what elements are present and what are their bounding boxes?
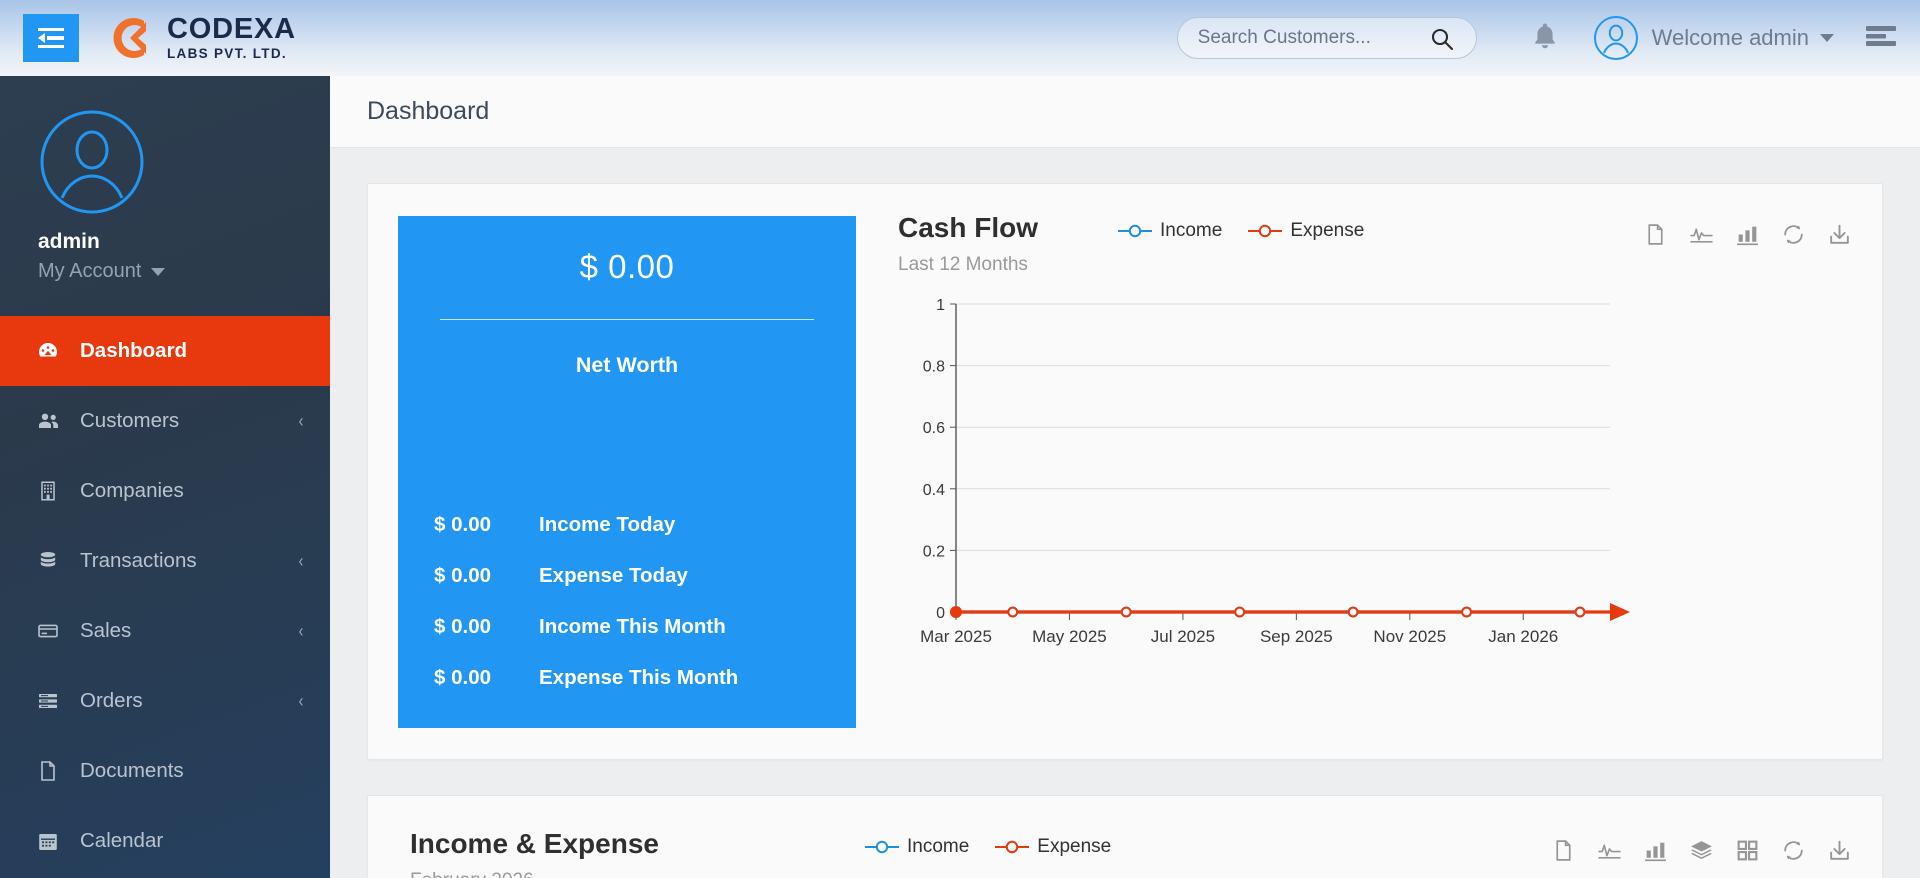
chevron-left-icon: ‹	[299, 621, 304, 642]
stat-label: Income This Month	[539, 615, 726, 639]
stat-value: $ 0.00	[434, 513, 539, 537]
net-worth-stat-row: $ 0.00Expense Today	[434, 564, 820, 588]
legend-item-expense[interactable]: Expense	[1248, 220, 1364, 242]
stat-value: $ 0.00	[434, 615, 539, 639]
calendar-icon	[36, 829, 66, 853]
svg-text:Nov 2025: Nov 2025	[1373, 627, 1446, 646]
sidebar-item-label: Documents	[80, 759, 184, 783]
chevron-down-icon	[1820, 34, 1834, 42]
line-chart-icon[interactable]	[1597, 838, 1622, 868]
stat-value: $ 0.00	[434, 564, 539, 588]
stat-label: Expense Today	[539, 564, 688, 588]
document-icon[interactable]	[1551, 838, 1576, 868]
chart-subtitle: February 2026	[410, 870, 659, 878]
document-icon[interactable]	[1643, 222, 1668, 252]
download-icon[interactable]	[1827, 222, 1852, 252]
legend-item-expense[interactable]: Expense	[995, 836, 1111, 858]
net-worth-tile: $ 0.00 Net Worth $ 0.00Income Today$ 0.0…	[398, 216, 856, 728]
download-icon[interactable]	[1827, 838, 1852, 868]
stat-label: Expense This Month	[539, 666, 738, 690]
search-icon[interactable]	[1430, 27, 1454, 56]
sidebar: admin My Account DashboardCustomers‹Comp…	[0, 76, 330, 878]
legend-marker-icon	[995, 838, 1029, 856]
cash-flow-plot: 00.20.40.60.81Mar 2025May 2025Jul 2025Se…	[898, 290, 1852, 685]
svg-text:0.4: 0.4	[923, 482, 945, 499]
sidebar-profile: admin My Account	[0, 76, 330, 283]
svg-text:0.2: 0.2	[923, 543, 945, 560]
notifications-button[interactable]	[1523, 21, 1567, 56]
user-menu-button[interactable]: Welcome admin	[1652, 25, 1834, 51]
sidebar-item-transactions[interactable]: Transactions‹	[0, 526, 330, 596]
legend-item-income[interactable]: Income	[1118, 220, 1222, 242]
stat-value: $ 0.00	[434, 666, 539, 690]
brand-subtitle: LABS PVT. LTD.	[167, 47, 296, 61]
chevron-left-icon: ‹	[299, 691, 304, 712]
brand-name: CODEXA	[167, 15, 296, 44]
credit-card-icon	[36, 619, 66, 643]
chart-subtitle: Last 12 Months	[898, 254, 1038, 276]
income-expense-card: Income & Expense February 2026 IncomeExp…	[367, 795, 1883, 878]
search-input[interactable]	[1178, 27, 1406, 49]
chart-toolbar	[1551, 828, 1852, 868]
legend-label: Expense	[1290, 220, 1364, 242]
sidebar-item-orders[interactable]: Orders‹	[0, 666, 330, 736]
sidebar-item-label: Orders	[80, 689, 143, 713]
net-worth-stat-row: $ 0.00Expense This Month	[434, 666, 820, 690]
sidebar-item-documents[interactable]: Documents	[0, 736, 330, 806]
users-icon	[36, 409, 66, 433]
sidebar-item-label: Sales	[80, 619, 131, 643]
sidebar-item-label: Companies	[80, 479, 184, 503]
chart-legend: IncomeExpense	[1118, 220, 1364, 242]
apps-menu-button[interactable]	[1866, 25, 1896, 52]
svg-text:Jul 2025: Jul 2025	[1151, 627, 1215, 646]
sidebar-item-companies[interactable]: Companies	[0, 456, 330, 526]
chart-toolbar	[1643, 212, 1852, 252]
chart-title: Income & Expense	[410, 828, 659, 860]
net-worth-label: Net Worth	[434, 353, 820, 378]
breadcrumb: Dashboard	[330, 76, 1920, 148]
bell-icon	[1532, 21, 1558, 56]
svg-text:May 2025: May 2025	[1032, 627, 1107, 646]
sidebar-item-label: Calendar	[80, 829, 163, 853]
codexa-mark-icon	[104, 12, 156, 64]
database-icon	[36, 549, 66, 573]
legend-label: Income	[1160, 220, 1222, 242]
legend-label: Expense	[1037, 836, 1111, 858]
svg-text:0.6: 0.6	[923, 420, 945, 437]
cash-flow-chart-panel: Cash Flow Last 12 Months IncomeExpense 0…	[856, 184, 1882, 759]
sidebar-menu: DashboardCustomers‹CompaniesTransactions…	[0, 316, 330, 876]
svg-text:1: 1	[936, 297, 945, 314]
list-view-icon	[1866, 34, 1896, 51]
legend-marker-icon	[1248, 222, 1282, 240]
legend-label: Income	[907, 836, 969, 858]
sidebar-username: admin	[38, 230, 330, 254]
search-box[interactable]	[1177, 17, 1477, 59]
chevron-down-icon	[151, 268, 165, 276]
stat-label: Income Today	[539, 513, 675, 537]
cash-flow-card: $ 0.00 Net Worth $ 0.00Income Today$ 0.0…	[367, 183, 1883, 760]
legend-marker-icon	[865, 838, 899, 856]
refresh-icon[interactable]	[1781, 222, 1806, 252]
line-chart-icon[interactable]	[1689, 222, 1714, 252]
sidebar-item-label: Dashboard	[80, 339, 187, 363]
svg-text:Mar 2025: Mar 2025	[920, 627, 992, 646]
net-worth-stat-row: $ 0.00Income This Month	[434, 615, 820, 639]
welcome-label: Welcome admin	[1652, 25, 1809, 51]
net-worth-stats: $ 0.00Income Today$ 0.00Expense Today$ 0…	[434, 513, 820, 728]
svg-text:Jan 2026: Jan 2026	[1488, 627, 1558, 646]
legend-item-income[interactable]: Income	[865, 836, 969, 858]
divider	[440, 319, 814, 320]
list-icon	[36, 689, 66, 713]
net-worth-amount: $ 0.00	[434, 248, 820, 286]
svg-text:0: 0	[936, 605, 945, 622]
brand-logo[interactable]: CODEXA LABS PVT. LTD.	[104, 12, 296, 64]
net-worth-stat-row: $ 0.00Income Today	[434, 513, 820, 537]
chevron-left-icon: ‹	[299, 551, 304, 572]
sidebar-item-label: Transactions	[80, 549, 197, 573]
top-header: CODEXA LABS PVT. LTD.	[0, 0, 1920, 76]
dashboard-page: CODEXA LABS PVT. LTD.	[0, 0, 1920, 878]
sidebar-item-calendar[interactable]: Calendar	[0, 806, 330, 876]
svg-text:Sep 2025: Sep 2025	[1260, 627, 1333, 646]
grid-icon[interactable]	[1735, 838, 1760, 868]
my-account-label: My Account	[38, 260, 141, 283]
layers-icon[interactable]	[1689, 838, 1714, 868]
sidebar-item-label: Customers	[80, 409, 179, 433]
chart-legend: IncomeExpense	[865, 836, 1111, 858]
building-icon	[36, 479, 66, 503]
legend-marker-icon	[1118, 222, 1152, 240]
page-title: Dashboard	[367, 97, 489, 126]
chevron-left-icon: ‹	[299, 411, 304, 432]
main-content: Dashboard $ 0.00 Net Worth $ 0.00Income …	[330, 76, 1920, 878]
refresh-icon[interactable]	[1781, 838, 1806, 868]
sidebar-avatar	[38, 108, 146, 216]
dashboard-icon	[36, 339, 66, 363]
sidebar-toggle-button[interactable]	[23, 14, 79, 62]
svg-text:0.8: 0.8	[923, 359, 945, 376]
menu-collapse-icon	[38, 28, 64, 48]
sidebar-item-customers[interactable]: Customers‹	[0, 386, 330, 456]
chart-title: Cash Flow	[898, 212, 1038, 244]
sidebar-item-sales[interactable]: Sales‹	[0, 596, 330, 666]
my-account-dropdown[interactable]: My Account	[38, 260, 330, 283]
bar-chart-icon[interactable]	[1735, 222, 1760, 252]
sidebar-item-dashboard[interactable]: Dashboard	[0, 316, 330, 386]
bar-chart-icon[interactable]	[1643, 838, 1668, 868]
avatar[interactable]	[1593, 15, 1639, 61]
document-icon	[36, 759, 66, 783]
